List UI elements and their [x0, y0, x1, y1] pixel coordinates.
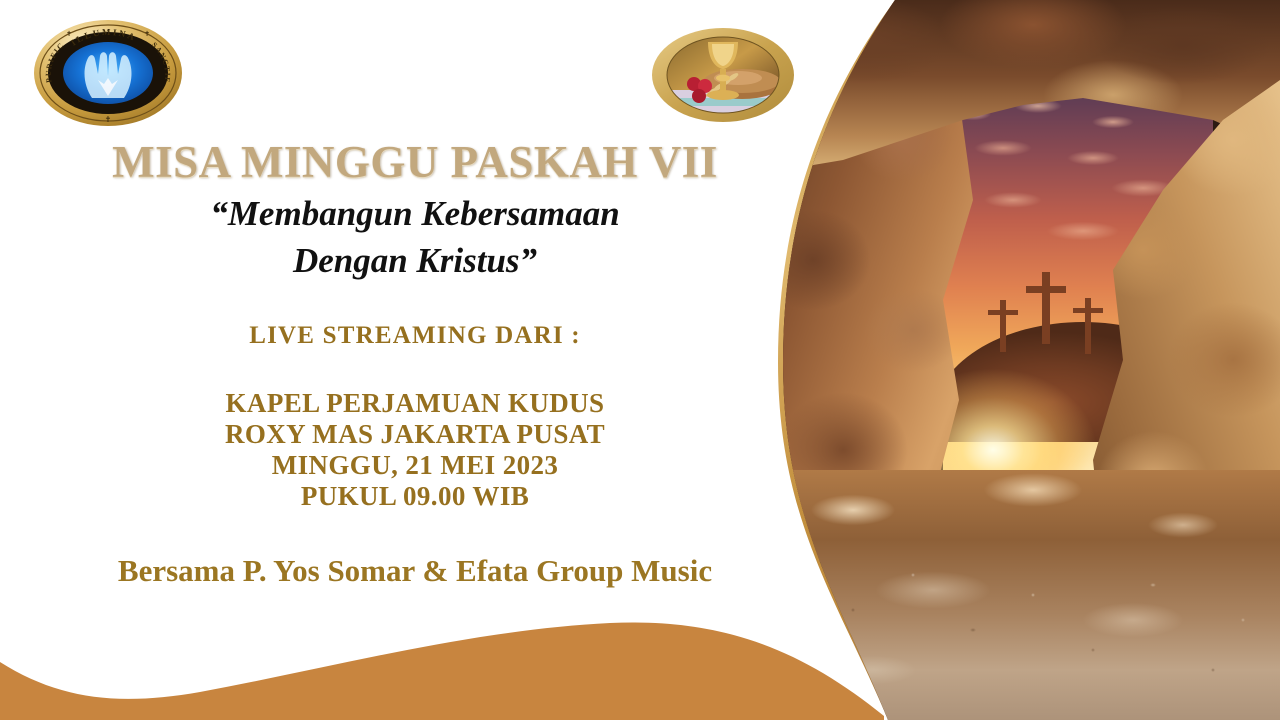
- venue-line-2: ROXY MAS JAKARTA PUSAT: [0, 419, 830, 450]
- photo-inner: [783, 0, 1280, 720]
- presenter-line: Bersama P. Yos Somar & Efata Group Music: [0, 553, 830, 589]
- page-title: MISA MINGGU PASKAH VII: [0, 136, 830, 188]
- svg-text:✝: ✝: [144, 30, 150, 38]
- purifica-illumina-sanctifica-emblem: ILLUMINA PURIFICA SANCTIFICA ✝ ✝ ✝: [32, 18, 184, 128]
- ground-pebbles: [783, 560, 1280, 720]
- subtitle-line-2: Dengan Kristus”: [0, 237, 830, 284]
- subtitle-line-1: “Membangun Kebersamaan: [0, 190, 830, 237]
- cross-glyph-icon: ✝: [105, 115, 112, 124]
- poster-canvas: ILLUMINA PURIFICA SANCTIFICA ✝ ✝ ✝: [0, 0, 1280, 720]
- venue-line-4: PUKUL 09.00 WIB: [0, 481, 830, 512]
- svg-text:✝: ✝: [66, 30, 72, 38]
- empty-tomb-photo: [0, 0, 1280, 720]
- cross-left-icon: [988, 300, 1018, 352]
- venue-details: KAPEL PERJAMUAN KUDUS ROXY MAS JAKARTA P…: [0, 388, 830, 512]
- live-streaming-label: LIVE STREAMING DARI :: [0, 322, 830, 350]
- venue-line-3: MINGGU, 21 MEI 2023: [0, 450, 830, 481]
- cross-right-icon: [1073, 298, 1103, 354]
- venue-line-1: KAPEL PERJAMUAN KUDUS: [0, 388, 830, 419]
- page-subtitle: “Membangun Kebersamaan Dengan Kristus”: [0, 190, 830, 284]
- eucharist-chalice-emblem: [650, 26, 796, 124]
- cross-center-icon: [1026, 272, 1066, 344]
